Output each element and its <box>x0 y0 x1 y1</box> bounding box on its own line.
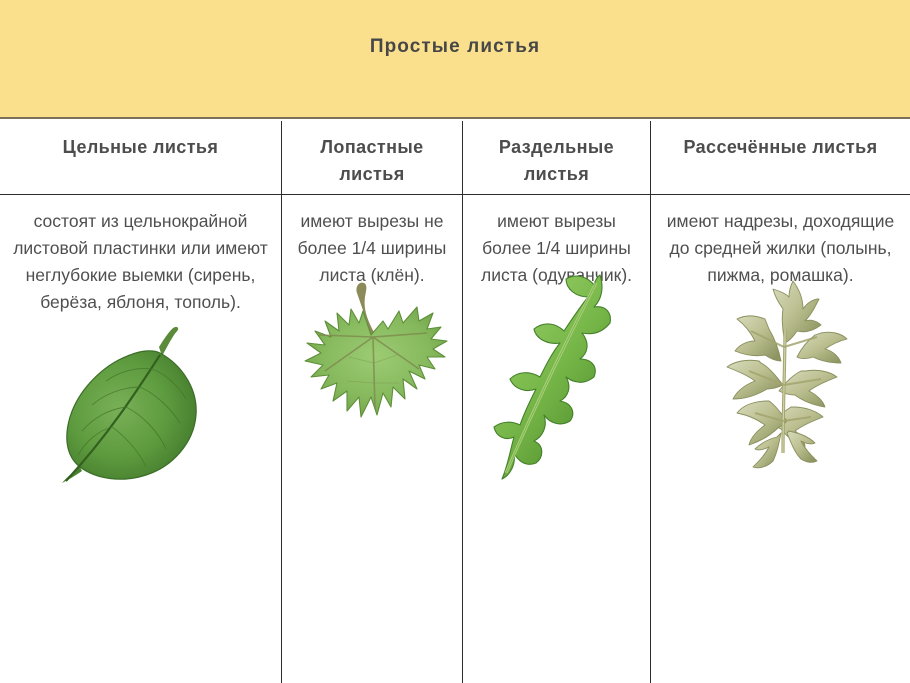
table-column-dissected: Рассечённые листья имеют надрезы, доходя… <box>650 121 910 683</box>
leaf-image-holder-dissected <box>651 275 910 475</box>
leaf-blade <box>494 275 610 479</box>
dissected-wormwood-leaf-illustration <box>693 275 868 475</box>
column-body-lobed: имеют вырезы не более 1/4 ширины листа (… <box>282 195 462 683</box>
petiole <box>159 327 178 356</box>
leaf-image-holder-entire <box>0 303 281 493</box>
column-body-dissected: имеют надрезы, доходящие до средней жилк… <box>651 195 910 683</box>
column-header-divided: Раздельные листья <box>463 121 650 195</box>
table-column-entire: Цельные листья состоят из цельнокрайной … <box>0 121 281 683</box>
column-body-divided: имеют вырезы более 1/4 ширины листа (оду… <box>463 195 650 683</box>
column-body-entire: состоят из цельнокрайной листовой пласти… <box>0 195 281 683</box>
column-header-dissected: Рассечённые листья <box>651 121 910 195</box>
leaf-types-infographic: Простые листья Цельные листья состоят из… <box>0 0 910 683</box>
leaf-types-table: Цельные листья состоят из цельнокрайной … <box>0 121 910 683</box>
column-header-entire: Цельные листья <box>0 121 281 195</box>
table-column-divided: Раздельные листья имеют вырезы более 1/4… <box>462 121 650 683</box>
column-header-label: Цельные листья <box>57 134 225 161</box>
leaf-image-holder-divided <box>463 265 650 490</box>
column-description: состоят из цельнокрайной листовой пласти… <box>0 195 281 316</box>
lobed-maple-leaf-illustration <box>287 277 457 462</box>
page-title: Простые листья <box>0 36 910 58</box>
title-band: Простые листья <box>0 0 910 119</box>
leaflets <box>727 281 847 468</box>
column-description: имеют вырезы не более 1/4 ширины листа (… <box>282 195 462 289</box>
divided-dandelion-leaf-illustration <box>484 265 629 490</box>
table-column-lobed: Лопастные листья имеют вырезы не более 1… <box>281 121 462 683</box>
column-header-label: Лопастные листья <box>282 134 462 188</box>
entire-leaf-illustration <box>56 303 226 493</box>
column-header-label: Рассечённые листья <box>677 134 883 161</box>
leaf-image-holder-lobed <box>282 277 462 462</box>
column-header-lobed: Лопастные листья <box>282 121 462 195</box>
column-header-label: Раздельные листья <box>463 134 650 188</box>
